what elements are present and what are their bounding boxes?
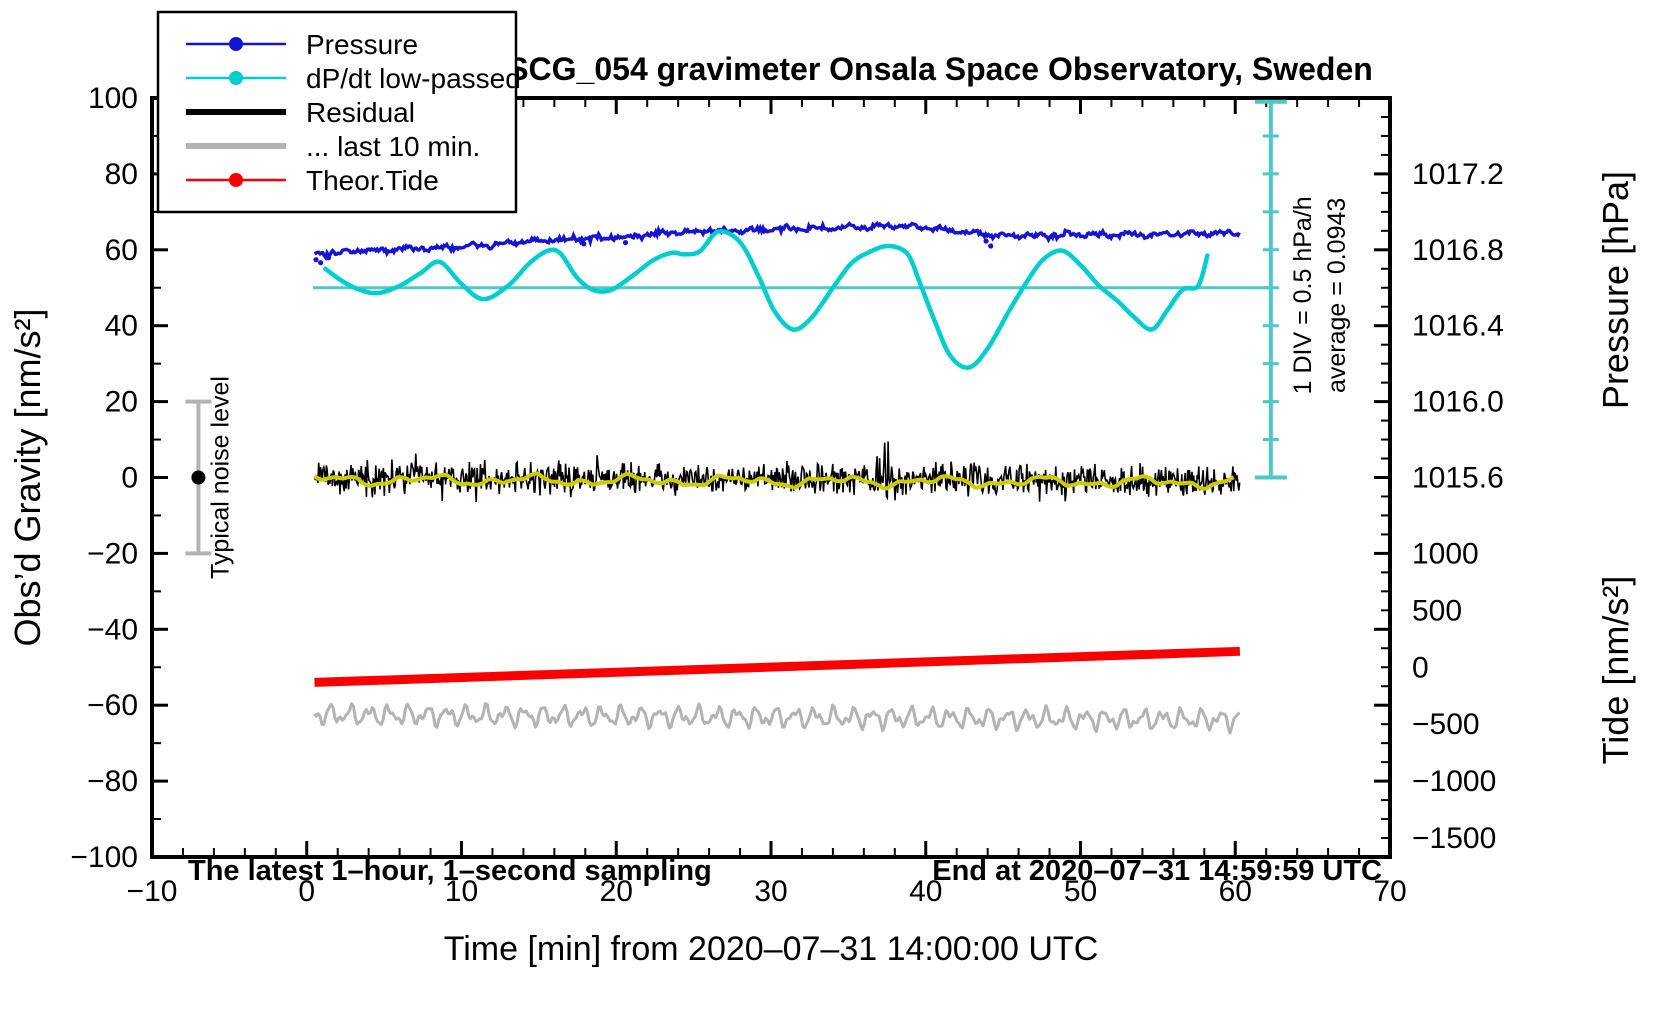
- chart-title: SCG_054 gravimeter Onsala Space Observat…: [507, 51, 1373, 87]
- tide-tick-label: 1000: [1412, 537, 1479, 570]
- x-tick-label: 30: [754, 875, 787, 908]
- footer-right: End at 2020–07–31 14:59:59 UTC: [932, 855, 1382, 887]
- tide-tick-label: −1000: [1412, 765, 1496, 798]
- legend-marker-1[interactable]: [229, 37, 243, 51]
- x-axis-label: Time [min] from 2020–07–31 14:00:00 UTC: [444, 930, 1099, 968]
- div-label-scale: 1 DIV = 0.5 hPa/h: [1289, 196, 1317, 394]
- y-left-tick-label: −60: [87, 689, 138, 722]
- tide-tick-label: −1500: [1412, 822, 1496, 855]
- legend-marker-2[interactable]: [229, 71, 243, 85]
- pressure-trace: [315, 223, 1240, 257]
- tide-tick-label: −500: [1412, 708, 1480, 741]
- footer-left: The latest 1–hour, 1–second sampling: [188, 855, 712, 887]
- y-left-tick-label: 20: [105, 386, 138, 419]
- div-label-average: average = 0.0943: [1323, 198, 1351, 393]
- y-left-tick-label: −100: [70, 841, 138, 874]
- pressure-outlier-dot: [984, 238, 989, 243]
- pressure-tick-label: 1016.4: [1412, 310, 1504, 343]
- noise-center-dot: [191, 471, 205, 485]
- tide-tick-label: 0: [1412, 651, 1429, 684]
- y-left-tick-label: −40: [87, 613, 138, 646]
- plot-canvas: −10010203040506070Time [min] from 2020–0…: [0, 0, 1660, 1020]
- pressure-tick-label: 1015.6: [1412, 462, 1504, 495]
- y-left-axis-label: Obs’d Gravity [nm/s²]: [7, 308, 48, 646]
- pressure-axis-label: Pressure [hPa]: [1595, 171, 1636, 409]
- last-10-min-trace: [315, 704, 1240, 733]
- y-left-tick-label: 40: [105, 310, 138, 343]
- y-left-tick-label: −20: [87, 537, 138, 570]
- legend-label-5: Theor.Tide: [306, 165, 439, 196]
- y-left-tick-label: 100: [88, 82, 138, 115]
- pressure-outlier-dot: [326, 255, 331, 260]
- pressure-outlier-dot: [988, 243, 993, 248]
- tide-tick-label: 500: [1412, 594, 1462, 627]
- pressure-tick-label: 1017.2: [1412, 158, 1504, 191]
- legend-label-1: Pressure: [306, 29, 418, 60]
- theor-tide-line: [314, 651, 1239, 682]
- y-left-tick-label: 0: [121, 462, 138, 495]
- pressure-outlier-dot: [313, 257, 318, 262]
- legend-label-4: ... last 10 min.: [306, 131, 480, 162]
- y-left-tick-label: 80: [105, 158, 138, 191]
- y-left-tick-label: −80: [87, 765, 138, 798]
- pressure-outlier-dot: [318, 260, 323, 265]
- tide-axis-label: Tide [nm/s²]: [1595, 576, 1636, 765]
- gravimeter-figure: −10010203040506070Time [min] from 2020–0…: [0, 0, 1660, 1020]
- pressure-outlier-dot: [581, 241, 586, 246]
- pressure-outlier-dot: [623, 240, 628, 245]
- noise-level-label: Typical noise level: [206, 376, 234, 579]
- x-tick-label: −10: [127, 875, 178, 908]
- dpdt-trace: [325, 231, 1207, 367]
- legend-marker-5[interactable]: [229, 173, 243, 187]
- pressure-tick-label: 1016.0: [1412, 386, 1504, 419]
- residual-trace: [315, 442, 1240, 503]
- pressure-tick-label: 1016.8: [1412, 234, 1504, 267]
- y-left-tick-label: 60: [105, 234, 138, 267]
- legend-label-3: Residual: [306, 97, 415, 128]
- legend-label-2: dP/dt low-passed: [306, 63, 521, 94]
